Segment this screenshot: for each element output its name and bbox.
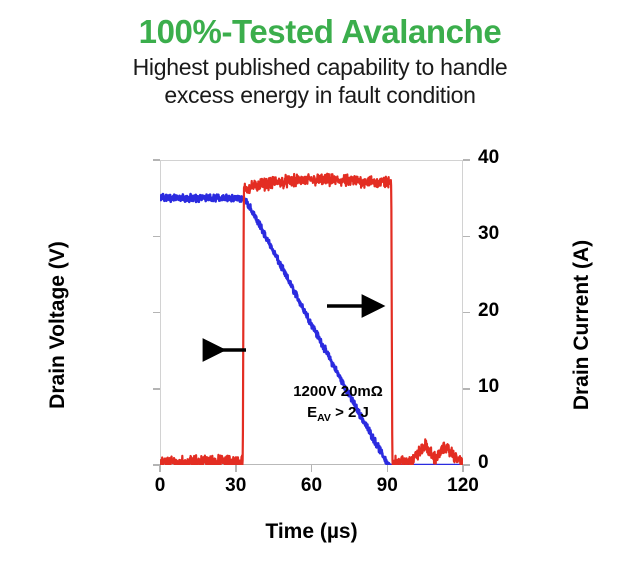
x-tick-label: 90 bbox=[357, 475, 417, 497]
y-tick-mark-left bbox=[153, 159, 160, 161]
y-tick-label-right: 30 bbox=[478, 223, 499, 245]
x-tick-mark bbox=[387, 465, 389, 472]
page-subtitle: Highest published capability to handle e… bbox=[0, 53, 640, 109]
x-axis-title: Time (µs) bbox=[160, 520, 463, 544]
subtitle-line-1: Highest published capability to handle bbox=[0, 53, 640, 81]
avalanche-waveform-chart: Drain Voltage (V) Drain Current (A) Time… bbox=[0, 138, 640, 574]
y-tick-mark-right bbox=[463, 236, 470, 238]
device-rating-annotation: 1200V 20mΩ EAV > 2 J bbox=[258, 381, 418, 426]
x-tick-label: 0 bbox=[130, 475, 190, 497]
y-tick-mark-right bbox=[463, 159, 470, 161]
y-tick-label-right: 10 bbox=[478, 376, 499, 398]
x-tick-label: 30 bbox=[206, 475, 266, 497]
y-tick-mark-right bbox=[463, 464, 470, 466]
y-tick-mark-left bbox=[153, 236, 160, 238]
y-tick-mark-right bbox=[463, 388, 470, 390]
y-axis-right-title: Drain Current (A) bbox=[570, 215, 594, 435]
subtitle-line-2: excess energy in fault condition bbox=[0, 81, 640, 109]
x-tick-label: 60 bbox=[282, 475, 342, 497]
x-tick-label: 120 bbox=[433, 475, 493, 497]
x-tick-mark bbox=[235, 465, 237, 472]
x-tick-mark bbox=[311, 465, 313, 472]
y-tick-label-right: 20 bbox=[478, 300, 499, 322]
y-tick-label-right: 40 bbox=[478, 147, 499, 169]
annotation-line-voltage-resistance: 1200V 20mΩ bbox=[258, 381, 418, 402]
y-tick-label-right: 0 bbox=[478, 452, 489, 474]
x-tick-mark bbox=[159, 465, 161, 472]
y-tick-mark-left bbox=[153, 388, 160, 390]
x-tick-mark bbox=[462, 465, 464, 472]
y-axis-left-title: Drain Voltage (V) bbox=[46, 215, 70, 435]
eav-suffix: > 2 J bbox=[331, 404, 369, 421]
header-block: 100%-Tested Avalanche Highest published … bbox=[0, 0, 640, 109]
y-tick-mark-right bbox=[463, 312, 470, 314]
page-title: 100%-Tested Avalanche bbox=[0, 14, 640, 50]
y-tick-mark-left bbox=[153, 312, 160, 314]
annotation-line-avalanche-energy: EAV > 2 J bbox=[258, 402, 418, 426]
eav-prefix: E bbox=[307, 404, 317, 421]
eav-subscript: AV bbox=[317, 412, 331, 424]
